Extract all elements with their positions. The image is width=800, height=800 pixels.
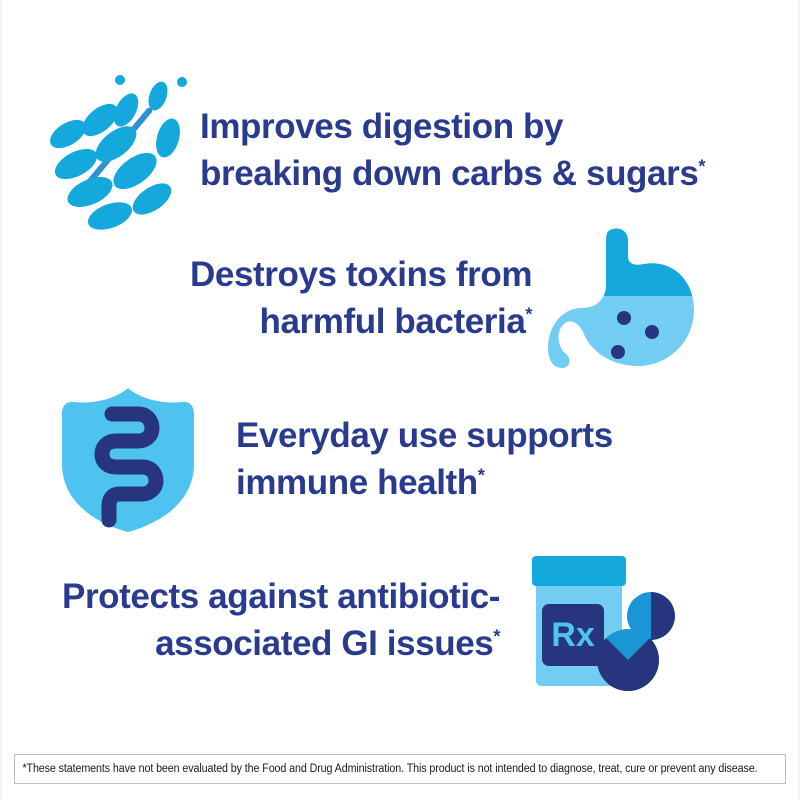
wheat-grain-icon bbox=[34, 72, 192, 230]
benefit-text-destroys-toxins: Destroys toxins from harmful bacteria* bbox=[190, 252, 532, 345]
benefit-line-2-text: associated GI issues bbox=[155, 624, 493, 663]
benefit-line-1: Protects against antibiotic- bbox=[62, 574, 500, 621]
benefit-line-1: Everyday use supports bbox=[236, 413, 613, 460]
asterisk-marker: * bbox=[478, 465, 485, 485]
asterisk-marker: * bbox=[493, 626, 500, 646]
stomach-icon bbox=[548, 226, 700, 371]
benefit-row-antibiotic-gi-issues: Protects against antibiotic- associated … bbox=[62, 548, 688, 694]
asterisk-marker: * bbox=[525, 304, 532, 324]
benefit-line-2: immune health* bbox=[236, 460, 613, 507]
benefit-line-2: harmful bacteria* bbox=[190, 299, 532, 346]
footnote-text: *These statements have not been evaluate… bbox=[15, 763, 757, 775]
benefit-text-immune-health: Everyday use supports immune health* bbox=[236, 413, 613, 506]
benefit-line-1: Improves digestion by bbox=[200, 104, 705, 151]
benefit-text-antibiotic-gi-issues: Protects against antibiotic- associated … bbox=[62, 574, 500, 667]
rx-label-text: Rx bbox=[551, 616, 595, 654]
pill-bottle-rx-icon: Rx bbox=[520, 548, 688, 694]
benefit-text-improves-digestion: Improves digestion by breaking down carb… bbox=[200, 104, 705, 197]
benefit-line-2: breaking down carbs & sugars* bbox=[200, 151, 705, 198]
asterisk-marker: * bbox=[698, 156, 705, 176]
benefit-line-2-text: breaking down carbs & sugars bbox=[200, 154, 698, 193]
footnote-box: *These statements have not been evaluate… bbox=[14, 754, 786, 784]
benefit-line-2-text: immune health bbox=[236, 463, 478, 502]
benefit-row-improves-digestion: Improves digestion by breaking down carb… bbox=[34, 72, 705, 230]
benefit-line-2: associated GI issues* bbox=[62, 621, 500, 668]
benefit-line-1: Destroys toxins from bbox=[190, 252, 532, 299]
infographic-canvas: Improves digestion by breaking down carb… bbox=[0, 0, 800, 800]
left-edge-border bbox=[0, 0, 2, 800]
benefit-row-destroys-toxins: Destroys toxins from harmful bacteria* bbox=[190, 226, 700, 371]
benefit-line-2-text: harmful bacteria bbox=[259, 302, 525, 341]
benefit-row-immune-health: Everyday use supports immune health* bbox=[52, 386, 613, 534]
shield-intestine-icon bbox=[52, 386, 204, 534]
